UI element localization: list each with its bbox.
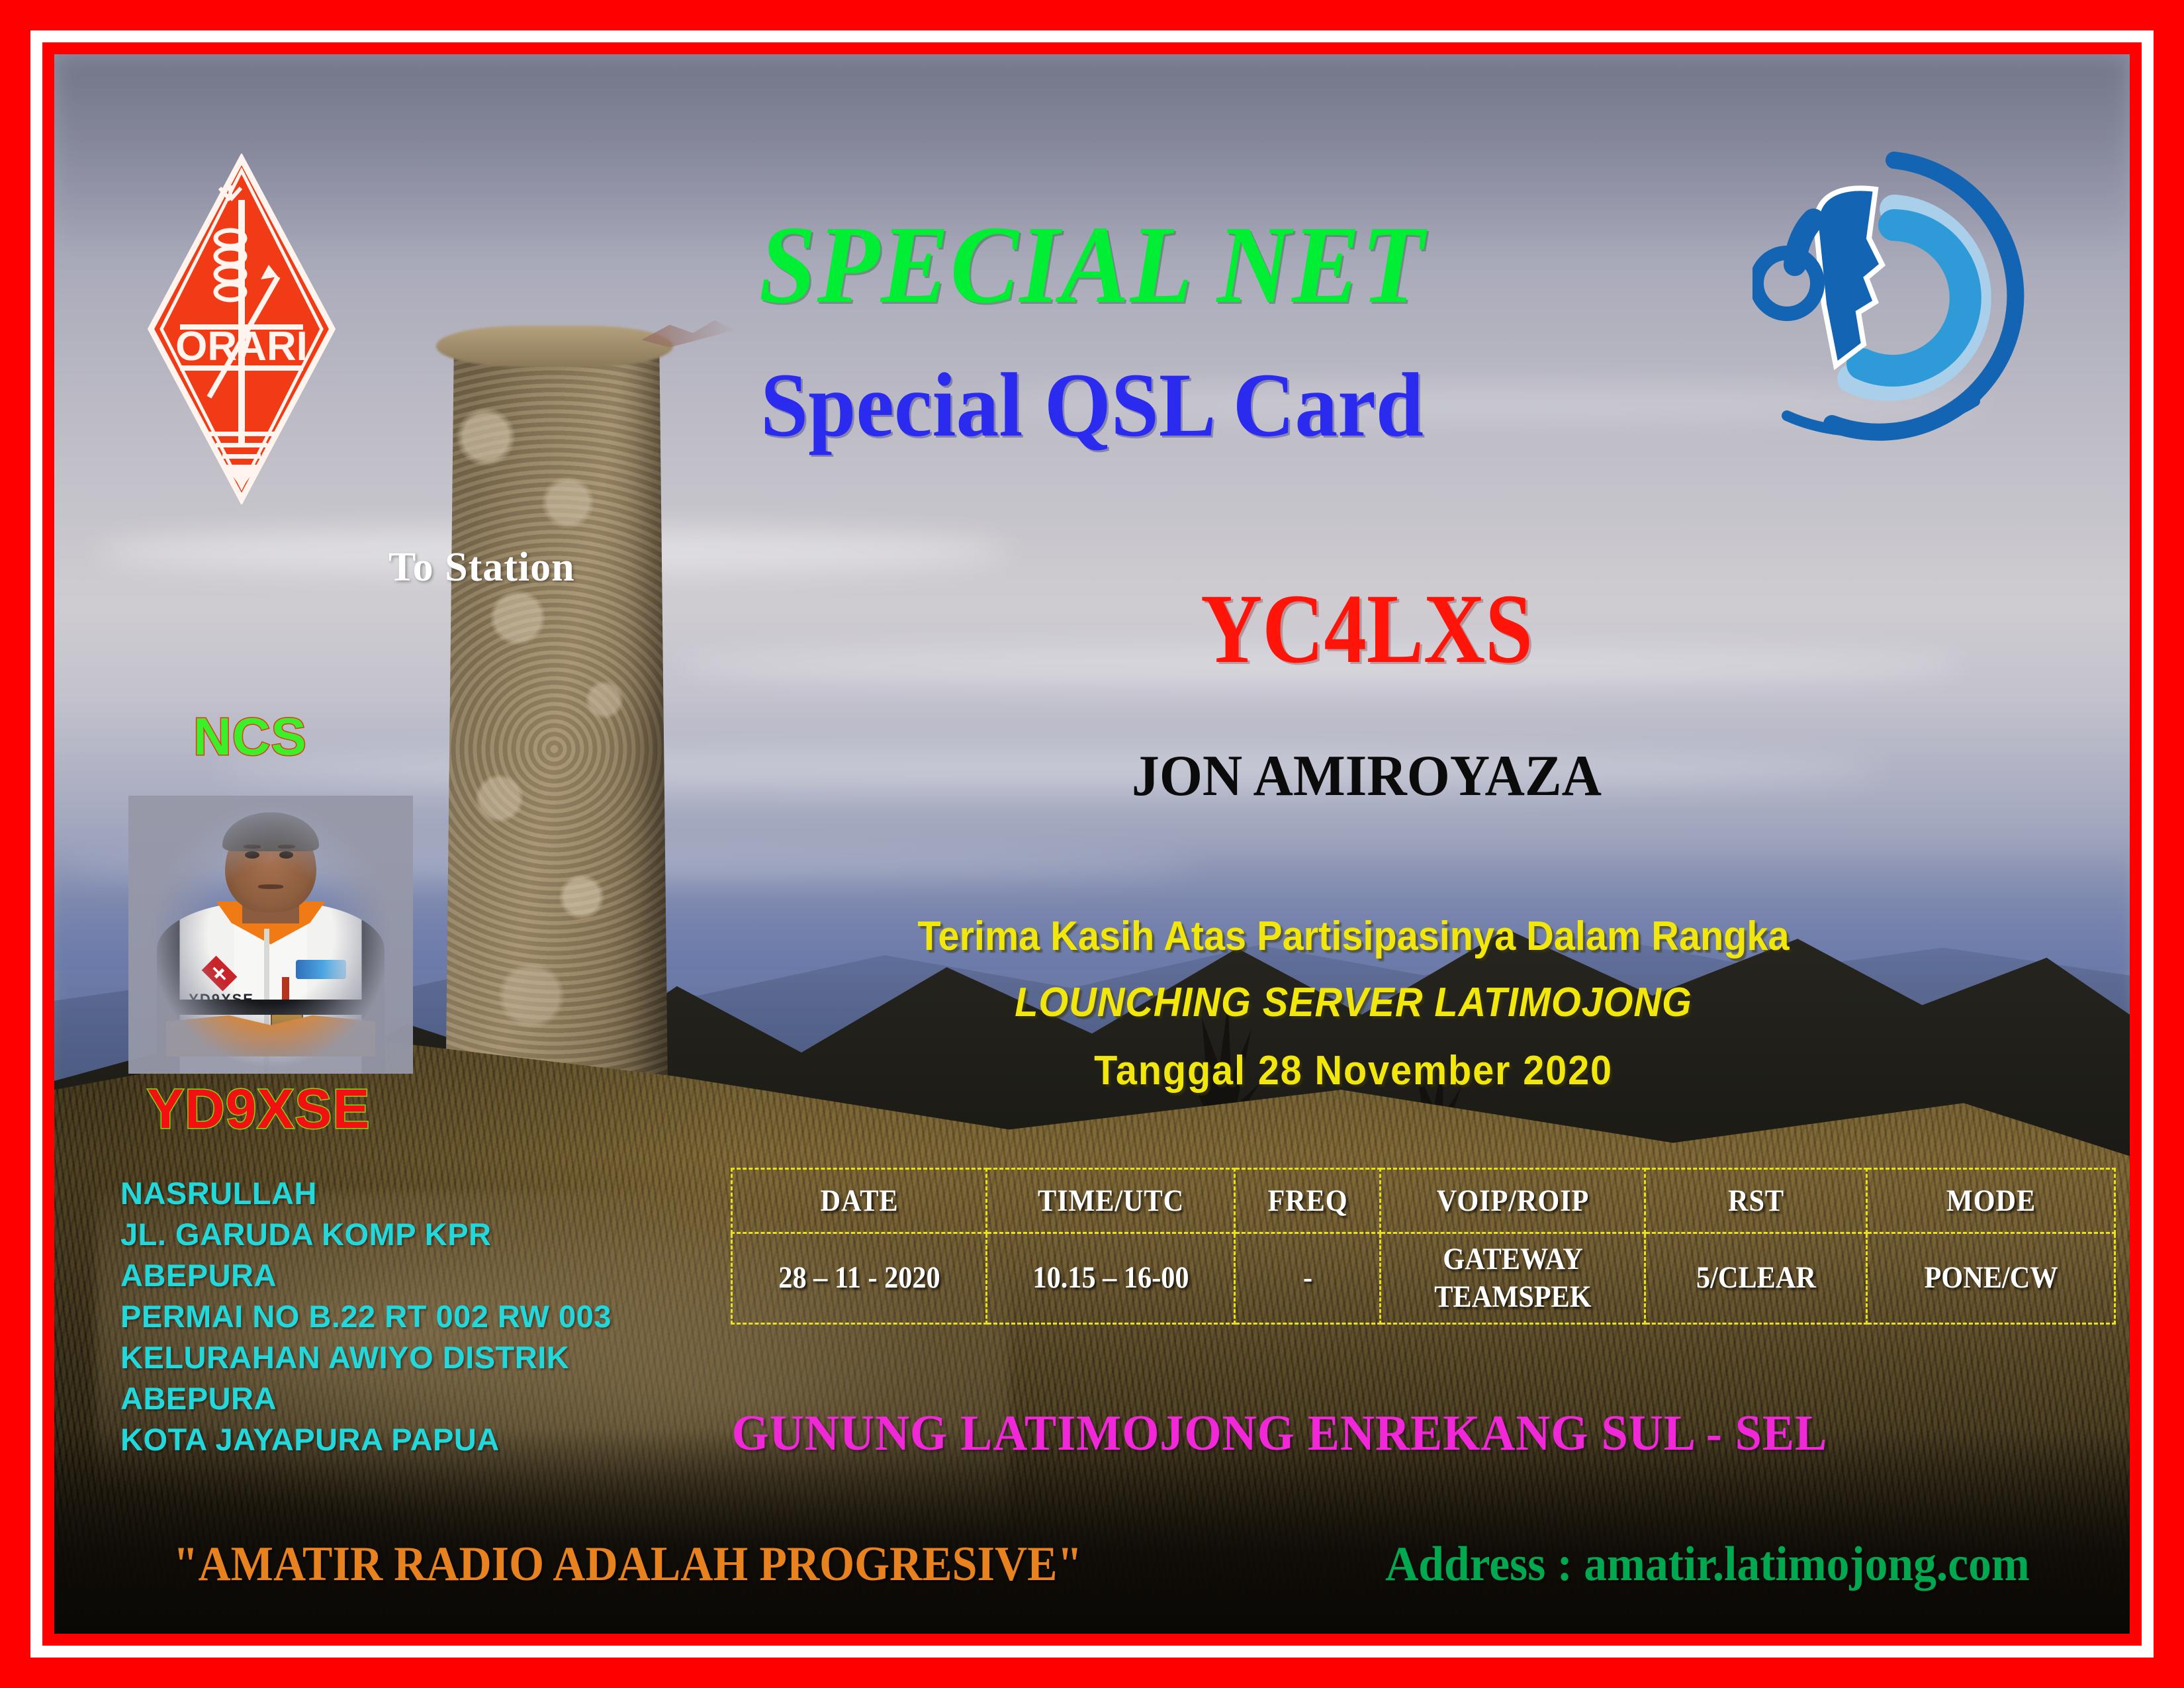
station-callsign: YC4LXS bbox=[893, 572, 1841, 686]
column-header-time: TIME/UTC bbox=[999, 1169, 1222, 1233]
station-address-block: NASRULLAH JL. GARUDA KOMP KPR ABEPURA PE… bbox=[120, 1173, 612, 1460]
table-row: 28 – 11 - 2020 10.15 – 16-00 - GATEWAY T… bbox=[732, 1233, 2115, 1324]
column-header-date: DATE bbox=[745, 1169, 974, 1233]
address-line: KOTA JAYAPURA PAPUA bbox=[120, 1419, 612, 1460]
location-caption: GUNUNG LATIMOJONG ENREKANG SUL - SEL bbox=[732, 1405, 1828, 1462]
column-header-rst: RST bbox=[1656, 1169, 1856, 1233]
subtitle-special-qsl-card: Special QSL Card bbox=[116, 352, 2068, 457]
to-station-label: To Station bbox=[388, 544, 575, 591]
footer-address: Address : amatir.latimojong.com bbox=[1385, 1536, 2030, 1593]
card-photo-area: ORARI bbox=[54, 54, 2130, 1634]
address-line: ABEPURA bbox=[120, 1378, 612, 1419]
address-line: NASRULLAH bbox=[120, 1173, 612, 1214]
cell-date: 28 – 11 - 2020 bbox=[745, 1233, 974, 1324]
cell-voip-line1: GATEWAY bbox=[1443, 1242, 1583, 1276]
address-line: ABEPURA bbox=[120, 1255, 612, 1296]
qsl-card: ORARI bbox=[0, 0, 2184, 1688]
cell-mode: PONE/CW bbox=[1879, 1233, 2103, 1324]
cell-time: 10.15 – 16-00 bbox=[999, 1233, 1222, 1324]
ncs-operator-photo: YD9XSE bbox=[128, 796, 413, 1074]
column-header-voip: VOIP/ROIP bbox=[1394, 1169, 1632, 1233]
footer-motto: "AMATIR RADIO ADALAH PROGRESIVE" bbox=[173, 1536, 1083, 1593]
column-header-freq: FREQ bbox=[1242, 1169, 1373, 1233]
event-date-line: Tanggal 28 November 2020 bbox=[792, 1047, 1915, 1094]
cell-voip-line2: TEAMSPEK bbox=[1434, 1280, 1591, 1314]
page-title-special-net: SPECIAL NET bbox=[137, 201, 2046, 329]
event-thanks-line: Terima Kasih Atas Partisipasinya Dalam R… bbox=[792, 913, 1915, 960]
address-line: PERMAI NO B.22 RT 002 RW 003 bbox=[120, 1296, 612, 1337]
cell-voip: GATEWAY TEAMSPEK bbox=[1394, 1233, 1632, 1324]
ncs-label: NCS bbox=[193, 706, 307, 767]
event-title-line: LOUNCHING SERVER LATIMOJONG bbox=[792, 979, 1915, 1026]
photo-oval-vignette bbox=[128, 796, 413, 1074]
stone-cairn-pillar bbox=[440, 338, 668, 1160]
qso-log-table: DATE TIME/UTC FREQ VOIP/ROIP RST MODE 28… bbox=[731, 1168, 2116, 1325]
address-line: JL. GARUDA KOMP KPR bbox=[120, 1214, 612, 1255]
column-header-mode: MODE bbox=[1879, 1169, 2103, 1233]
cell-freq: - bbox=[1242, 1233, 1373, 1324]
cell-rst: 5/CLEAR bbox=[1656, 1233, 1856, 1324]
operator-name: JON AMIROYAZA bbox=[843, 743, 1891, 810]
address-line: KELURAHAN AWIYO DISTRIK bbox=[120, 1337, 612, 1378]
ncs-callsign: YD9XSE bbox=[147, 1077, 371, 1141]
table-header-row: DATE TIME/UTC FREQ VOIP/ROIP RST MODE bbox=[732, 1169, 2115, 1233]
